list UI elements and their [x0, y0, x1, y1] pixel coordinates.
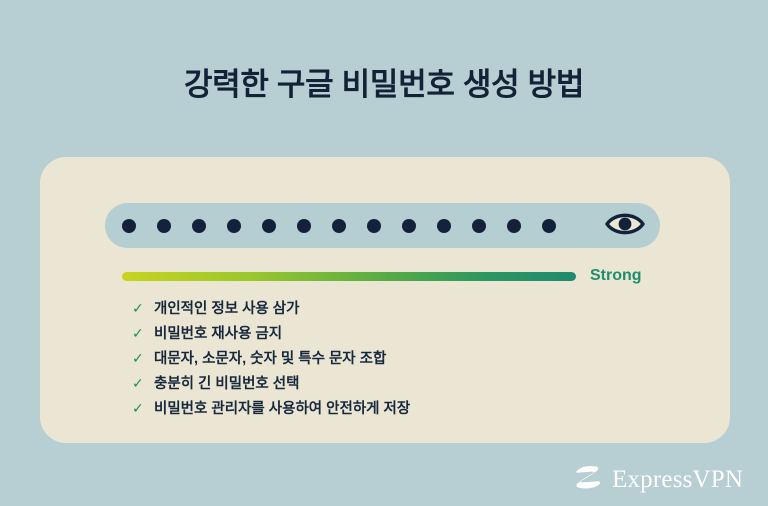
password-dot	[157, 219, 171, 233]
password-tips-list: ✓개인적인 정보 사용 삼가✓비밀번호 재사용 금지✓대문자, 소문자, 숫자 …	[132, 295, 692, 420]
check-icon: ✓	[132, 376, 146, 390]
password-dot	[332, 219, 346, 233]
check-icon: ✓	[132, 401, 146, 415]
check-icon: ✓	[132, 326, 146, 340]
password-tip-label: 비밀번호 재사용 금지	[154, 322, 282, 343]
password-tip-item: ✓대문자, 소문자, 숫자 및 특수 문자 조합	[132, 345, 692, 370]
check-icon: ✓	[132, 351, 146, 365]
check-icon: ✓	[132, 301, 146, 315]
password-dot	[472, 219, 486, 233]
password-strength-meter: Strong	[122, 265, 682, 287]
expressvpn-e-icon	[573, 462, 603, 497]
reveal-password-button[interactable]	[603, 211, 647, 241]
strength-bar-fill	[122, 272, 576, 281]
password-dot	[542, 219, 556, 233]
page-title: 강력한 구글 비밀번호 생성 방법	[0, 59, 768, 104]
password-tip-label: 대문자, 소문자, 숫자 및 특수 문자 조합	[154, 347, 386, 368]
password-input[interactable]	[105, 203, 660, 248]
password-dot	[192, 219, 206, 233]
brand-logo: ExpressVPN	[573, 462, 743, 497]
strength-label: Strong	[590, 265, 642, 287]
infographic-canvas: 강력한 구글 비밀번호 생성 방법 Strong ✓개인적인 정보 사용 삼가✓…	[0, 0, 768, 506]
password-tip-label: 비밀번호 관리자를 사용하여 안전하게 저장	[154, 397, 410, 418]
password-tip-item: ✓충분히 긴 비밀번호 선택	[132, 370, 692, 395]
password-dot	[297, 219, 311, 233]
password-tip-label: 개인적인 정보 사용 삼가	[154, 297, 300, 318]
password-dot	[262, 219, 276, 233]
eye-icon	[603, 209, 647, 242]
password-tip-item: ✓비밀번호 재사용 금지	[132, 320, 692, 345]
password-dot	[437, 219, 451, 233]
password-dot	[122, 219, 136, 233]
password-card: Strong ✓개인적인 정보 사용 삼가✓비밀번호 재사용 금지✓대문자, 소…	[40, 157, 730, 443]
password-dot	[367, 219, 381, 233]
password-tip-item: ✓비밀번호 관리자를 사용하여 안전하게 저장	[132, 395, 692, 420]
password-dot	[507, 219, 521, 233]
password-dot	[227, 219, 241, 233]
password-dot	[402, 219, 416, 233]
brand-wordmark: ExpressVPN	[612, 467, 743, 492]
password-tip-item: ✓개인적인 정보 사용 삼가	[132, 295, 692, 320]
password-tip-label: 충분히 긴 비밀번호 선택	[154, 372, 300, 393]
masked-password-dots	[122, 203, 556, 248]
